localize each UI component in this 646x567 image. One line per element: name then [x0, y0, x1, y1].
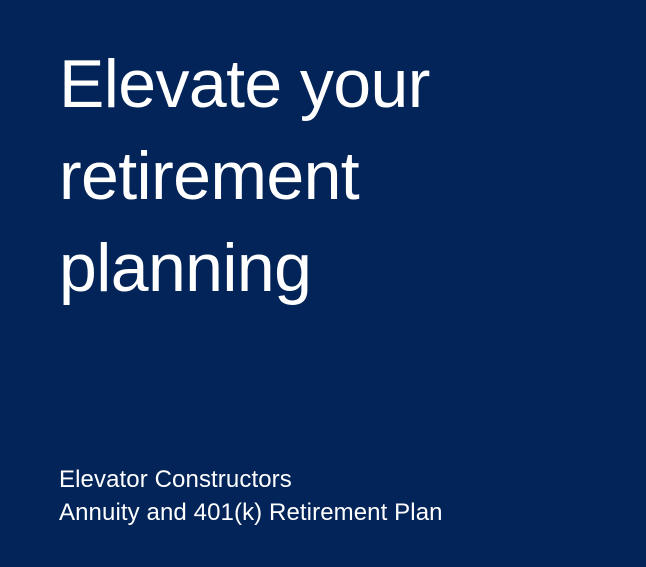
- plan-title: Annuity and 401(k) Retirement Plan: [59, 496, 619, 529]
- cover-slide: Elevate your retirement planning Elevato…: [0, 0, 646, 567]
- plan-organization: Elevator Constructors: [59, 463, 619, 496]
- page-title: Elevate your retirement planning: [59, 38, 619, 314]
- cover-content: Elevate your retirement planning Elevato…: [0, 0, 646, 567]
- plan-name-block: Elevator Constructors Annuity and 401(k)…: [59, 463, 619, 529]
